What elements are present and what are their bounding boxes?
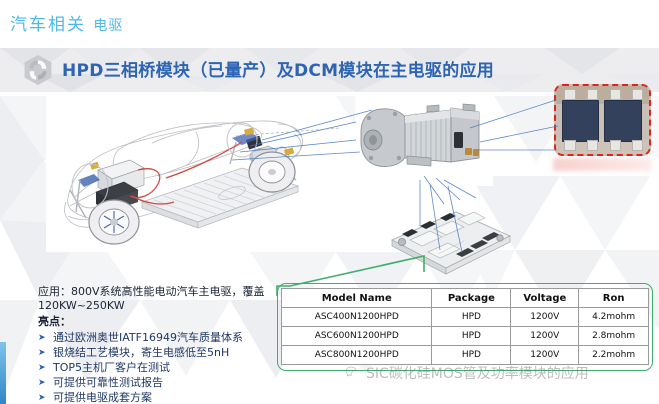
cell-voltage: 1200V bbox=[511, 327, 579, 346]
module-terminal bbox=[564, 140, 575, 151]
column-header-voltage: Voltage bbox=[511, 289, 579, 308]
module-body-right bbox=[604, 100, 641, 142]
cell-ron: 4.2mohm bbox=[579, 308, 649, 327]
highlight-item: TOP5主机厂客户在测试 bbox=[38, 360, 276, 375]
page-kicker: 汽车相关 电驱 bbox=[10, 10, 123, 35]
e-axle-motor-figure bbox=[355, 96, 493, 186]
spec-table: Model Name Package Voltage Ron ASC400N12… bbox=[281, 288, 649, 365]
module-terminal bbox=[587, 140, 598, 151]
slide-canvas: 汽车相关 电驱 HPD三相桥模块（已量产）及DCM模块在主电驱的应用 bbox=[0, 0, 659, 404]
highlight-item: 可提供可靠性测试报告 bbox=[38, 375, 276, 390]
highlights-label: 亮点： bbox=[38, 314, 276, 329]
module-body-left bbox=[562, 100, 599, 142]
red-caption-smudge bbox=[553, 158, 651, 171]
hexagon-logo-icon bbox=[22, 54, 54, 86]
hpd-module-photo-inset bbox=[554, 84, 651, 156]
column-header-ron: Ron bbox=[579, 289, 649, 308]
table-row: ASC400N1200HPD HPD 1200V 4.2mohm bbox=[282, 308, 649, 327]
table-row: ASC800N1200HPD HPD 1200V 2.2mohm bbox=[282, 346, 649, 365]
cell-package: HPD bbox=[432, 308, 511, 327]
column-header-model-name: Model Name bbox=[282, 289, 432, 308]
cell-voltage: 1200V bbox=[511, 346, 579, 365]
module-terminal bbox=[632, 140, 643, 151]
left-edge-accent bbox=[0, 342, 6, 404]
application-lead: 应用：800V系统高性能电动汽车主电驱，覆盖120KW~250KW bbox=[38, 285, 276, 313]
kicker-main: 汽车相关 bbox=[10, 15, 86, 35]
ev-chassis-figure bbox=[46, 94, 336, 252]
dcm-module-figure bbox=[386, 196, 518, 280]
cell-ron: 2.8mohm bbox=[579, 327, 649, 346]
module-terminal bbox=[610, 89, 621, 100]
cell-ron: 2.2mohm bbox=[579, 346, 649, 365]
highlight-item: 可提供电驱成套方案 bbox=[38, 390, 276, 404]
module-terminal bbox=[564, 89, 575, 100]
cell-package: HPD bbox=[432, 346, 511, 365]
cell-model-name: ASC400N1200HPD bbox=[282, 308, 432, 327]
slide-title: HPD三相桥模块（已量产）及DCM模块在主电驱的应用 bbox=[62, 56, 494, 81]
module-terminal bbox=[632, 89, 643, 100]
e-axle-motor-drawing bbox=[355, 96, 493, 186]
dcm-module-drawing bbox=[386, 196, 518, 280]
cell-model-name: ASC600N1200HPD bbox=[282, 327, 432, 346]
module-terminal bbox=[587, 89, 598, 100]
highlights-list: 通过欧洲奥世IATF16949汽车质量体系 银烧结工艺模块，寄生电感低至5nH … bbox=[38, 330, 276, 404]
application-text-block: 应用：800V系统高性能电动汽车主电驱，覆盖120KW~250KW 亮点： 通过… bbox=[38, 285, 276, 404]
cell-model-name: ASC800N1200HPD bbox=[282, 346, 432, 365]
cell-voltage: 1200V bbox=[511, 308, 579, 327]
module-terminal bbox=[610, 140, 621, 151]
column-header-package: Package bbox=[432, 289, 511, 308]
table-row: ASC600N1200HPD HPD 1200V 2.8mohm bbox=[282, 327, 649, 346]
ev-chassis-drawing bbox=[46, 94, 336, 252]
cell-package: HPD bbox=[432, 327, 511, 346]
highlight-item: 银烧结工艺模块，寄生电感低至5nH bbox=[38, 345, 276, 360]
highlight-item: 通过欧洲奥世IATF16949汽车质量体系 bbox=[38, 330, 276, 345]
kicker-secondary: 电驱 bbox=[93, 18, 123, 34]
table-header-row: Model Name Package Voltage Ron bbox=[282, 289, 649, 308]
